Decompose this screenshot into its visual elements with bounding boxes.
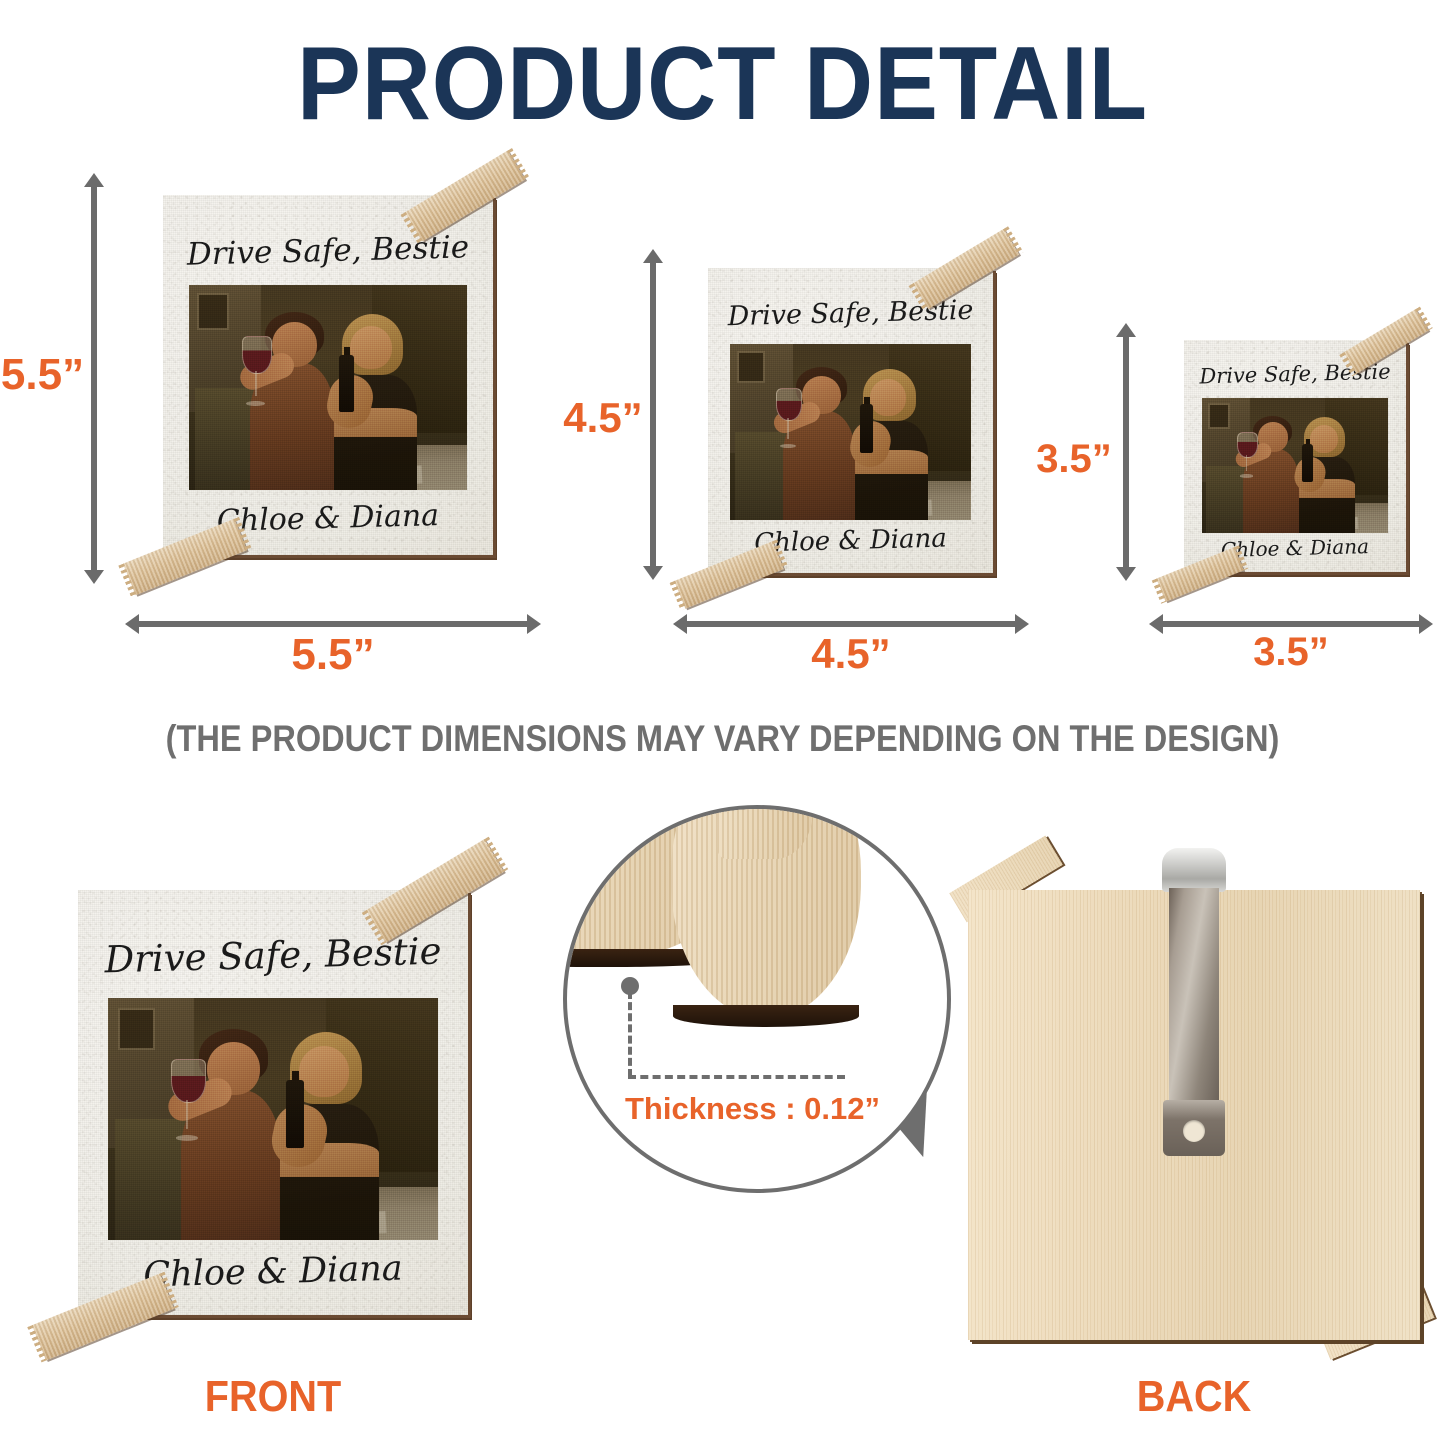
photo-wine-glass	[1237, 432, 1256, 478]
wine-glass-bowl	[1237, 432, 1258, 458]
photo-wall-picture	[1208, 403, 1231, 429]
thickness-guide-vertical	[628, 991, 632, 1077]
photo-woman-right-head	[1310, 425, 1338, 453]
photo-bottle	[860, 404, 873, 453]
clip-strap	[1169, 888, 1219, 1106]
photo-bottle	[286, 1080, 304, 1148]
clip-screw-hole	[1183, 1120, 1205, 1142]
width-arrow-small	[1162, 621, 1420, 627]
height-label-small: 3.5”	[1032, 437, 1116, 482]
wine-glass-foot	[246, 401, 265, 406]
photo-wine-glass	[171, 1059, 204, 1141]
photo-bottle	[1302, 444, 1312, 482]
photo-wall-picture	[118, 1008, 155, 1051]
photo-woman-right-head	[350, 326, 392, 369]
wine-glass-stem	[787, 418, 789, 440]
frame-photo-small	[1202, 398, 1388, 533]
front-label: FRONT	[98, 1372, 449, 1422]
width-label-small: 3.5”	[1162, 630, 1420, 675]
thickness-guide-horizontal	[628, 1075, 845, 1079]
wine-glass-bowl	[776, 388, 802, 421]
height-label-medium: 4.5”	[562, 394, 644, 442]
product-front-view: Drive Safe, Bestie	[78, 890, 468, 1315]
wine-glass-foot	[780, 444, 796, 448]
wine-glass-bowl	[171, 1059, 206, 1104]
photo-scene	[1202, 398, 1388, 533]
thickness-label: Thickness : 0.12”	[625, 1091, 880, 1127]
height-arrow-large	[91, 186, 97, 571]
width-arrow-large	[138, 621, 528, 627]
wine-glass-stem	[186, 1100, 189, 1130]
width-label-medium: 4.5”	[686, 630, 1016, 678]
clip-hook	[1162, 848, 1226, 892]
back-label: BACK	[991, 1372, 1398, 1422]
product-frame-medium: Drive Safe, Bestie	[708, 268, 993, 573]
front-photo	[108, 998, 438, 1240]
frame-photo-large	[189, 285, 467, 490]
wine-glass-foot	[1240, 474, 1253, 477]
photo-woman-right-head	[299, 1046, 349, 1097]
magnified-wood-edge-circle	[673, 1005, 859, 1027]
wine-glass-foot	[176, 1135, 198, 1141]
height-label-large: 5.5”	[0, 350, 85, 400]
height-arrow-small	[1123, 336, 1129, 568]
photo-scene	[108, 998, 438, 1240]
width-arrow-medium	[686, 621, 1016, 627]
height-arrow-medium	[650, 262, 656, 567]
photo-scene	[730, 344, 971, 520]
product-frame-small: Drive Safe, Bestie	[1184, 340, 1406, 572]
photo-wine-glass	[776, 388, 800, 448]
wine-glass-bowl	[242, 336, 272, 374]
dimensions-disclaimer: (THE PRODUCT DIMENSIONS MAY VARY DEPENDI…	[87, 718, 1359, 760]
page-title: PRODUCT DETAIL	[58, 30, 1387, 139]
width-label-large: 5.5”	[138, 630, 528, 680]
photo-scene	[189, 285, 467, 490]
photo-wine-glass	[242, 336, 270, 406]
photo-woman-right-head	[870, 379, 906, 416]
frame-photo-medium	[730, 344, 971, 520]
hanging-clip-icon	[1162, 848, 1226, 1168]
product-frame-large: Drive Safe, Bestie	[163, 195, 493, 555]
product-detail-infographic: PRODUCT DETAIL 5.5” Drive Safe, Bestie	[0, 0, 1445, 1445]
photo-wall-picture	[197, 293, 229, 330]
thickness-magnifier: Thickness : 0.12”	[563, 805, 951, 1193]
wine-glass-stem	[1246, 455, 1247, 472]
wine-glass-stem	[255, 371, 257, 396]
photo-bottle	[339, 355, 354, 412]
photo-wall-picture	[737, 351, 765, 383]
product-back-view	[968, 890, 1420, 1340]
